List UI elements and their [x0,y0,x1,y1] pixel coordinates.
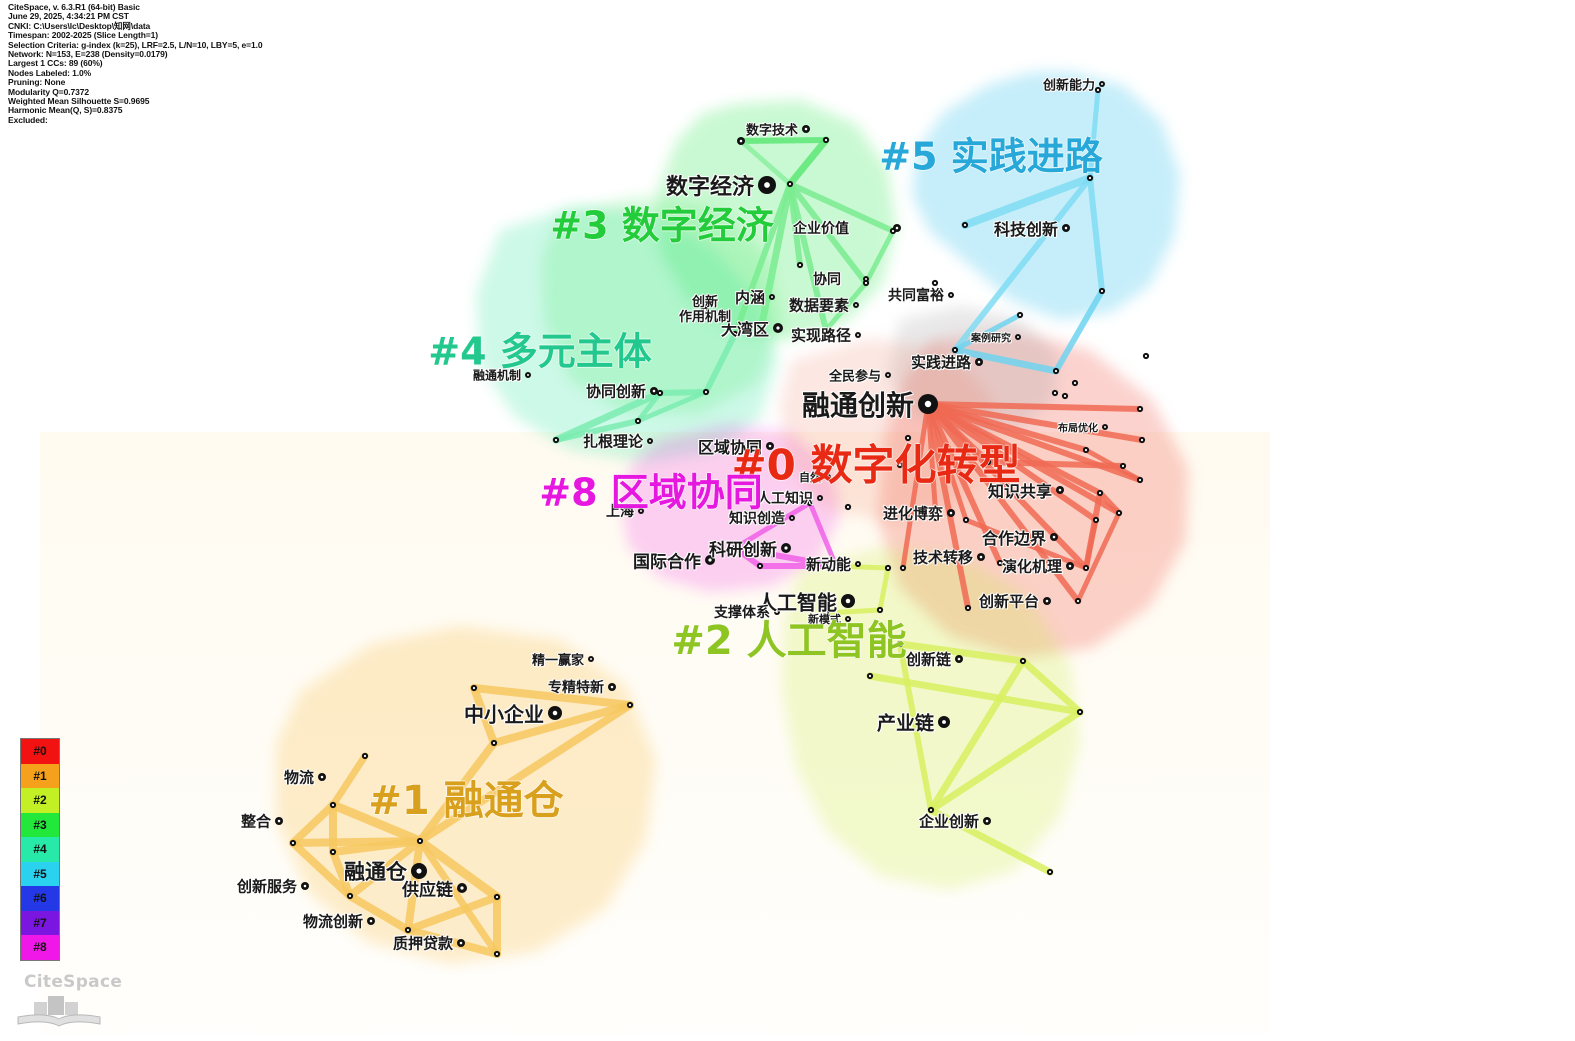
node-label[interactable]: 演化机理 [1002,556,1062,577]
graph-node-center [292,842,294,844]
graph-node-center [496,953,498,955]
legend-swatch-label: #7 [33,916,46,930]
node-label[interactable]: 合作边界 [982,525,1046,549]
legend-swatch-label: #2 [33,793,46,807]
graph-node-center [1139,408,1141,410]
graph-node-center [419,840,421,842]
graph-node-center [965,519,967,521]
node-label[interactable]: 企业价值 [793,218,849,238]
node-label[interactable]: 创新服务 [237,876,297,897]
graph-node-center [659,392,661,394]
node-label[interactable]: 国际合作 [633,548,701,573]
node-label[interactable]: 物流创新 [303,911,363,932]
graph-node-center [958,658,961,661]
legend-swatch-3[interactable]: #3 [21,813,59,838]
graph-node-center [590,658,592,660]
graph-node-center [496,896,498,898]
graph-node-center [857,334,859,336]
graph-node-center [1104,426,1106,428]
node-label[interactable]: 实践进路 [911,352,971,373]
graph-node-center [771,296,773,298]
graph-node-center [1077,600,1079,602]
graph-node-center [1053,536,1056,539]
citespace-logo: CiteSpace [8,972,112,1034]
graph-node-center [1118,512,1120,514]
graph-node-center [1055,370,1057,372]
node-label[interactable]: 协同 [813,269,841,289]
legend-swatch-label: #4 [33,842,46,856]
legend-swatch-0[interactable]: #0 [21,739,59,764]
legend-swatch-2[interactable]: #2 [21,788,59,813]
graph-node-center [902,567,904,569]
graph-node-center [1054,392,1056,394]
graph-node-center [825,139,827,141]
node-label[interactable]: 扎根理论 [583,431,643,452]
graph-node-center [934,282,936,284]
node-label[interactable]: 数字技术 [746,120,798,139]
graph-node-center [978,361,981,364]
legend-swatch-8[interactable]: #8 [21,935,59,960]
graph-node-center [332,804,334,806]
graph-node-center [1069,565,1072,568]
graph-node-center [653,390,656,393]
graph-node-center [950,294,952,296]
graph-node-center [942,720,946,724]
cluster-color-legend[interactable]: #0#1#2#3#4#5#6#7#8 [20,738,60,961]
graph-node-center [999,562,1001,564]
node-label[interactable]: 数据要素 [789,295,849,316]
node-label[interactable]: 技术转移 [913,547,973,568]
graph-node-center [1017,336,1019,338]
node-label[interactable]: 新动能 [806,554,851,575]
graph-node-center [855,304,857,306]
graph-node-center [887,374,889,376]
graph-node-center [1145,355,1147,357]
cluster-label-4[interactable]: #4 多元主体 [428,321,652,376]
graph-node-center [846,599,850,603]
graph-node-center [1064,395,1066,397]
cluster-label-2[interactable]: #2 人工智能 [671,608,906,666]
legend-swatch-label: #1 [33,769,46,783]
graph-node-center [980,556,983,559]
graph-node-center [1022,660,1024,662]
graph-node-center [896,227,899,230]
graph-node-center [460,942,463,945]
node-label[interactable]: 质押贷款 [393,933,453,954]
node-label[interactable]: 企业创新 [919,811,979,832]
graph-node-center [1097,89,1099,91]
cluster-label-1[interactable]: #1 融通仓 [368,768,563,826]
legend-swatch-label: #8 [33,940,46,954]
graph-node-center [611,686,614,689]
legend-swatch-6[interactable]: #6 [21,886,59,911]
graph-node-center [649,440,651,442]
node-label[interactable]: 创新链 [906,649,951,670]
graph-node-center [278,820,281,823]
graph-node-center [493,742,495,744]
graph-node-center [553,711,557,715]
graph-node-center [1079,711,1081,713]
node-label[interactable]: 创新平台 [979,591,1039,612]
graph-node-center [304,885,307,888]
graph-node-center [986,820,989,823]
graph-node-center [1074,382,1076,384]
graph-node-center [967,607,969,609]
legend-swatch-label: #0 [33,744,46,758]
graph-node-center [950,512,953,515]
graph-node-center [705,391,707,393]
graph-node-center [1019,314,1021,316]
graph-node-center [1085,567,1087,569]
node-label[interactable]: 精一赢家 [532,650,584,669]
graph-node-center [740,140,743,143]
cluster-label-0[interactable]: #0 数字化转型 [731,432,1020,493]
graph-node-center [805,128,808,131]
graph-node-center [332,851,334,853]
graph-node-center [1101,83,1103,85]
graph-node-center [789,183,791,185]
graph-node-center [555,439,557,441]
node-label[interactable]: 科技创新 [994,216,1058,240]
graph-node-center [349,895,351,897]
graph-node-center [321,776,324,779]
node-label[interactable]: 进化博弈 [883,503,943,524]
graph-node-center [1101,290,1103,292]
node-label[interactable]: 创新作用机制 [663,295,747,325]
legend-swatch-label: #6 [33,891,46,905]
legend-swatch-4[interactable]: #4 [21,837,59,862]
graph-node-center [784,546,787,549]
node-label[interactable]: 实现路径 [791,325,851,346]
node-label[interactable]: 案例研究 [971,330,1011,345]
node-label[interactable]: 科研创新 [709,536,777,561]
logo-text: CiteSpace [24,972,122,992]
citespace-cluster-view: CiteSpace, v. 6.3.R1 (64-bit) BasicJune … [0,0,1575,1041]
node-label[interactable]: 供应链 [402,876,453,901]
node-label[interactable]: 中小企业 [464,699,544,728]
graph-node-center [637,420,639,422]
graph-node-center [1139,479,1141,481]
graph-node-center [1059,489,1062,492]
legend-swatch-label: #3 [33,818,46,832]
graph-node-center [407,929,409,931]
graph-node-center [865,282,867,284]
node-label[interactable]: 专精特新 [548,677,604,697]
node-label[interactable]: 产业链 [877,709,934,736]
graph-node-center [1141,439,1143,441]
graph-node-center [857,563,859,565]
cluster-label-3[interactable]: #3 数字经济 [550,195,774,250]
node-label[interactable]: 协同创新 [586,381,646,402]
legend-swatch-5[interactable]: #5 [21,862,59,887]
node-label[interactable]: 全民参与 [829,366,881,385]
graph-node-center [1065,227,1068,230]
graph-node-center [799,264,801,266]
node-label[interactable]: 融通仓 [344,856,407,886]
legend-swatch-label: #5 [33,867,46,881]
cluster-label-5[interactable]: #5 实践进路 [879,126,1103,181]
graph-node-center [865,278,867,280]
graph-node-center [819,497,821,499]
node-label[interactable]: 布局优化 [1058,420,1098,435]
graph-node-center [1085,449,1087,451]
graph-node-center [1099,492,1101,494]
graph-node-center [925,401,931,407]
graph-node-center [776,326,779,329]
graph-node-center [629,704,631,706]
node-label[interactable]: 物流 [284,767,314,788]
cluster-label-8[interactable]: #8 区域协同 [539,462,763,517]
graph-node-center [473,687,475,689]
graph-node-center [759,565,761,567]
graph-node-center [791,517,793,519]
graph-node-center [370,920,373,923]
graph-node-center [764,182,770,188]
graph-node-center [887,567,889,569]
node-label[interactable]: 创新能力 [1043,75,1095,94]
graph-edge[interactable] [741,140,826,141]
node-label[interactable]: 共同富裕 [888,285,944,305]
graph-node-center [1122,465,1124,467]
node-label[interactable]: 整合 [241,811,271,832]
graph-node-center [460,886,463,889]
graph-node-center [1049,871,1051,873]
graph-node-center [1046,600,1049,603]
graph-node-center [364,755,366,757]
graph-node-center [847,506,849,508]
graph-node-center [869,675,871,677]
legend-swatch-7[interactable]: #7 [21,911,59,936]
node-label[interactable]: 融通创新 [802,384,914,424]
legend-swatch-1[interactable]: #1 [21,764,59,789]
graph-node-center [964,224,966,226]
graph-node-center [416,868,421,873]
graph-node-center [1095,519,1097,521]
